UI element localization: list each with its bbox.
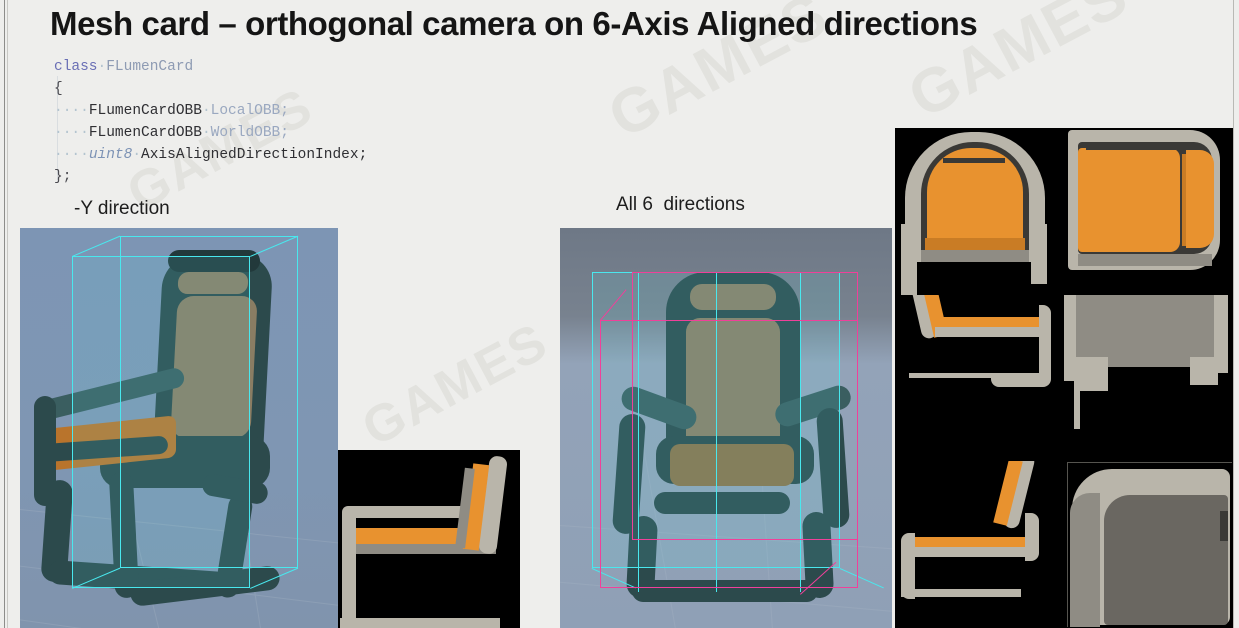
card-render-cell[interactable]	[895, 128, 1064, 295]
code-line: ····uint8·AxisAlignedDirectionIndex;	[54, 144, 367, 166]
code-block: class·FLumenCard{····FLumenCardOBB·Local…	[54, 56, 367, 188]
code-line: };	[54, 166, 367, 188]
caption-left-viewport: -Y direction	[74, 198, 170, 220]
code-token: ····	[54, 103, 89, 119]
slide-left-border-inner	[7, 0, 8, 628]
code-token: ·	[132, 147, 141, 163]
code-token: class	[54, 59, 98, 75]
caption-center-viewport: All 6 directions	[616, 194, 745, 216]
code-token: {	[54, 81, 63, 97]
bounding-box-magenta-back	[632, 272, 858, 540]
slide-right-border	[1233, 0, 1234, 628]
code-token: uint8	[89, 147, 133, 163]
card-render-plus-x-overlay[interactable]	[1068, 463, 1233, 628]
code-token: FLumenCardOBB	[89, 125, 202, 141]
viewport-minus-y-direction[interactable]	[20, 228, 338, 628]
code-line: {	[54, 78, 367, 100]
card-render-cell[interactable]	[895, 295, 1064, 462]
code-token: AxisAlignedDirectionIndex;	[141, 147, 367, 163]
card-render-minus-y[interactable]	[338, 450, 520, 628]
bounding-box-cyan-back	[120, 236, 298, 568]
code-token: };	[54, 169, 71, 185]
code-token: FLumenCard	[106, 59, 193, 75]
code-token: ····	[54, 125, 89, 141]
code-token: ·	[202, 125, 211, 141]
slide-left-border	[4, 0, 5, 628]
card-render-cell[interactable]	[1064, 295, 1233, 462]
code-line: ····FLumenCardOBB·WorldOBB;	[54, 122, 367, 144]
slide-canvas: GAMES GAMES GAMES GAMES Mesh card – orth…	[0, 0, 1239, 628]
card-render-cell[interactable]	[895, 461, 1064, 628]
code-token: ····	[54, 147, 89, 163]
watermark-text: GAMES	[353, 311, 558, 458]
code-token: ·	[98, 59, 107, 75]
code-token: FLumenCardOBB	[89, 103, 202, 119]
code-token: ·	[202, 103, 211, 119]
code-token: WorldOBB;	[211, 125, 289, 141]
viewport-all-6-directions[interactable]	[560, 228, 892, 628]
code-line: class·FLumenCard	[54, 56, 367, 78]
code-line: ····FLumenCardOBB·LocalOBB;	[54, 100, 367, 122]
code-token: LocalOBB;	[211, 103, 289, 119]
card-render-cell[interactable]	[1064, 128, 1233, 295]
slide-title: Mesh card – orthogonal camera on 6-Axis …	[50, 5, 977, 43]
